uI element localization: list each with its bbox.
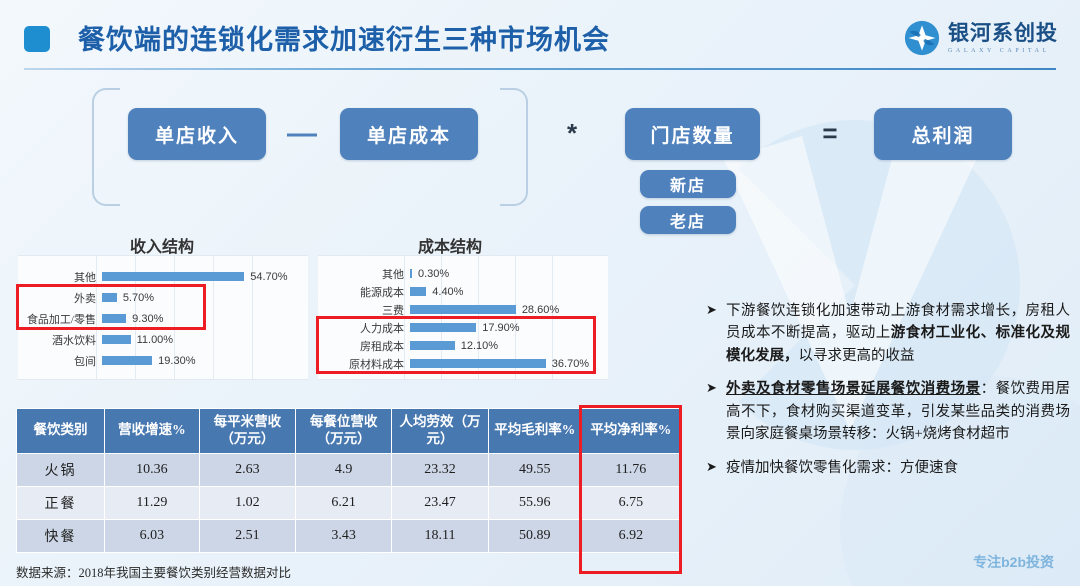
bullet-text: 疫情加快餐饮零售化需求：方便速食 (726, 457, 958, 479)
operator-minus: — (282, 122, 322, 146)
chart-bar (102, 335, 131, 344)
chart-bar-row: 包间19.30% (18, 350, 308, 371)
logo-text: 银河系创投 GALAXY CAPITAL (948, 23, 1058, 54)
chart-bar (410, 341, 455, 350)
bullet-underlined-lead: 外卖及食材零售场景延展餐饮消费场景 (726, 381, 981, 397)
chart-bar (102, 272, 244, 281)
profit-formula-diagram: 单店收入 — 单店成本 * 门店数量 新店 老店 = 总利润 (0, 82, 1080, 242)
chart-category-label: 酒水饮料 (18, 332, 102, 348)
table-row: 正餐11.291.026.2123.4755.966.75 (17, 486, 681, 519)
table-header-cell: 营收增速% (105, 409, 200, 454)
chart-bar (102, 293, 117, 302)
chart-value-label: 28.60% (522, 304, 559, 316)
chart-category-label: 原材料成本 (318, 356, 410, 372)
chart-cost-structure: 其他0.30%能源成本4.40%三费28.60%人力成本17.90%房租成本12… (318, 255, 608, 380)
table-cell-value: 50.89 (488, 519, 581, 552)
flow-box-total-profit-label: 总利润 (911, 121, 974, 148)
table-cell-category: 正餐 (17, 486, 105, 519)
chart-bar (410, 359, 546, 368)
chart-bar (410, 323, 476, 332)
operator-equals: = (810, 120, 850, 146)
table-cell-value: 6.75 (581, 486, 680, 519)
table-cell-value: 23.47 (392, 486, 489, 519)
table-cell-value: 18.11 (392, 519, 489, 552)
restaurant-metrics-table: 餐饮类别营收增速%每平米营收（万元）每餐位营收（万元）人均劳效（万元）平均毛利率… (16, 408, 681, 553)
chart-bar-row: 其他0.30% (318, 265, 608, 283)
chart-bar (410, 269, 412, 278)
chart-category-label: 其他 (18, 269, 102, 285)
table-cell-value: 2.63 (199, 453, 295, 486)
chart-bar-row: 其他54.70% (18, 266, 308, 287)
table-row: 火锅10.362.634.923.3249.5511.76 (17, 453, 681, 486)
table-header-cell: 每平米营收（万元） (199, 409, 295, 454)
flow-box-new-store[interactable]: 新店 (640, 170, 736, 198)
flow-box-store-revenue[interactable]: 单店收入 (128, 108, 266, 160)
brand-tagline: 专注b2b投资 (973, 552, 1054, 572)
chart-revenue-structure: 其他54.70%外卖5.70%食品加工/零售9.30%酒水饮料11.00%包间1… (18, 255, 308, 380)
table-cell-value: 11.29 (105, 486, 200, 519)
chart-bar-row: 能源成本4.40% (318, 283, 608, 301)
chart-category-label: 包间 (18, 353, 102, 369)
table-footnote: 数据来源：2018年我国主要餐饮类别经营数据对比 (16, 562, 291, 581)
chart-value-label: 12.10% (461, 340, 498, 352)
chart-category-label: 房租成本 (318, 338, 410, 354)
table-cell-value: 10.36 (105, 453, 200, 486)
flow-box-store-revenue-label: 单店收入 (155, 121, 239, 148)
table-cell-value: 49.55 (488, 453, 581, 486)
chart-bar-row: 原材料成本36.70% (318, 355, 608, 373)
bullet-arrow-icon: ➤ (706, 378, 726, 445)
table-row: 快餐6.032.513.4318.1150.896.92 (17, 519, 681, 552)
flow-box-store-cost-label: 单店成本 (367, 121, 451, 148)
table-cell-value: 3.43 (296, 519, 392, 552)
chart-bar (410, 287, 426, 296)
chart-title-cost-structure: 成本结构 (418, 233, 482, 257)
bracket-left (92, 88, 120, 206)
insight-bullet: ➤疫情加快餐饮零售化需求：方便速食 (706, 457, 1070, 479)
table-cell-value: 55.96 (488, 486, 581, 519)
table-cell-value: 2.51 (199, 519, 295, 552)
logo-chinese-name: 银河系创投 (948, 23, 1058, 44)
table-cell-value: 11.76 (581, 453, 680, 486)
title-bullet-square-icon (24, 26, 50, 52)
flow-box-old-store[interactable]: 老店 (640, 206, 736, 234)
chart-category-label: 外卖 (18, 290, 102, 306)
bullet-text: 下游餐饮连锁化加速带动上游食材需求增长，房租人员成本不断提高，驱动上游食材工业化… (726, 300, 1070, 367)
chart-category-label: 其他 (318, 266, 410, 282)
chart-bar-row: 人力成本17.90% (318, 319, 608, 337)
flow-box-new-store-label: 新店 (670, 172, 706, 196)
insight-bullet: ➤下游餐饮连锁化加速带动上游食材需求增长，房租人员成本不断提高，驱动上游食材工业… (706, 300, 1070, 367)
slide-header: 餐饮端的连锁化需求加速衍生三种市场机会 银河系创投 GALAXY CAPITAL (0, 0, 1080, 72)
chart-category-label: 三费 (318, 302, 410, 318)
bracket-right (500, 88, 528, 206)
flow-box-total-profit[interactable]: 总利润 (874, 108, 1012, 160)
bullet-arrow-icon: ➤ (706, 300, 726, 367)
chart-category-label: 人力成本 (318, 320, 410, 336)
table-cell-value: 23.32 (392, 453, 489, 486)
insight-bullet-list: ➤下游餐饮连锁化加速带动上游食材需求增长，房租人员成本不断提高，驱动上游食材工业… (706, 300, 1070, 490)
table-cell-value: 6.03 (105, 519, 200, 552)
flow-box-store-count-label: 门店数量 (650, 121, 734, 148)
chart-bar (410, 305, 516, 314)
chart-value-label: 17.90% (482, 322, 519, 334)
chart-bar-row: 房租成本12.10% (318, 337, 608, 355)
chart-category-label: 食品加工/零售 (18, 311, 102, 327)
chart-bar-row: 食品加工/零售9.30% (18, 308, 308, 329)
table-cell-value: 6.92 (581, 519, 680, 552)
bullet-text-part1: 疫情加快餐饮零售化需求：方便速食 (726, 460, 958, 476)
flow-box-old-store-label: 老店 (670, 208, 706, 232)
operator-multiply: * (552, 120, 592, 146)
chart-bar-row: 酒水饮料11.00% (18, 329, 308, 350)
insight-bullet: ➤外卖及食材零售场景延展餐饮消费场景：餐饮费用居高不下，食材购买渠道变革，引发某… (706, 378, 1070, 445)
table-cell-category: 火锅 (17, 453, 105, 486)
bullet-text-part2: 以寻求更高的收益 (799, 348, 915, 364)
brand-logo: 银河系创投 GALAXY CAPITAL (904, 18, 1058, 58)
table-cell-value: 4.9 (296, 453, 392, 486)
table-header-cell: 平均毛利率% (488, 409, 581, 454)
table-cell-value: 1.02 (199, 486, 295, 519)
bullet-text: 外卖及食材零售场景延展餐饮消费场景：餐饮费用居高不下，食材购买渠道变革，引发某些… (726, 378, 1070, 445)
table-header-cell: 餐饮类别 (17, 409, 105, 454)
chart-value-label: 9.30% (132, 313, 163, 325)
chart-category-label: 能源成本 (318, 284, 410, 300)
galaxy-star-logo-icon (904, 20, 940, 56)
flow-box-store-count[interactable]: 门店数量 (625, 108, 760, 160)
chart-value-label: 19.30% (158, 355, 195, 367)
table-body: 火锅10.362.634.923.3249.5511.76正餐11.291.02… (17, 453, 681, 552)
page-title: 餐饮端的连锁化需求加速衍生三种市场机会 (78, 18, 610, 57)
header-divider (24, 68, 1056, 70)
chart-bar-row: 外卖5.70% (18, 287, 308, 308)
table-header-cell: 每餐位营收（万元） (296, 409, 392, 454)
chart-value-label: 11.00% (137, 334, 174, 346)
table-header-row: 餐饮类别营收增速%每平米营收（万元）每餐位营收（万元）人均劳效（万元）平均毛利率… (17, 409, 681, 454)
flow-box-store-cost[interactable]: 单店成本 (340, 108, 478, 160)
logo-english-name: GALAXY CAPITAL (948, 48, 1058, 54)
chart-value-label: 54.70% (250, 271, 287, 283)
chart-value-label: 0.30% (418, 268, 449, 280)
chart-bar (102, 314, 126, 323)
table-cell-value: 6.21 (296, 486, 392, 519)
chart-value-label: 36.70% (552, 358, 589, 370)
chart-value-label: 5.70% (123, 292, 154, 304)
chart-bar-row: 三费28.60% (318, 301, 608, 319)
bullet-arrow-icon: ➤ (706, 457, 726, 479)
chart-value-label: 4.40% (432, 286, 463, 298)
slide-canvas: 餐饮端的连锁化需求加速衍生三种市场机会 银河系创投 GALAXY CAPITAL… (0, 0, 1080, 586)
chart-title-revenue-structure: 收入结构 (130, 233, 194, 257)
table-cell-category: 快餐 (17, 519, 105, 552)
table-header-cell: 人均劳效（万元） (392, 409, 489, 454)
table-header-cell: 平均净利率% (581, 409, 680, 454)
chart-bar (102, 356, 152, 365)
